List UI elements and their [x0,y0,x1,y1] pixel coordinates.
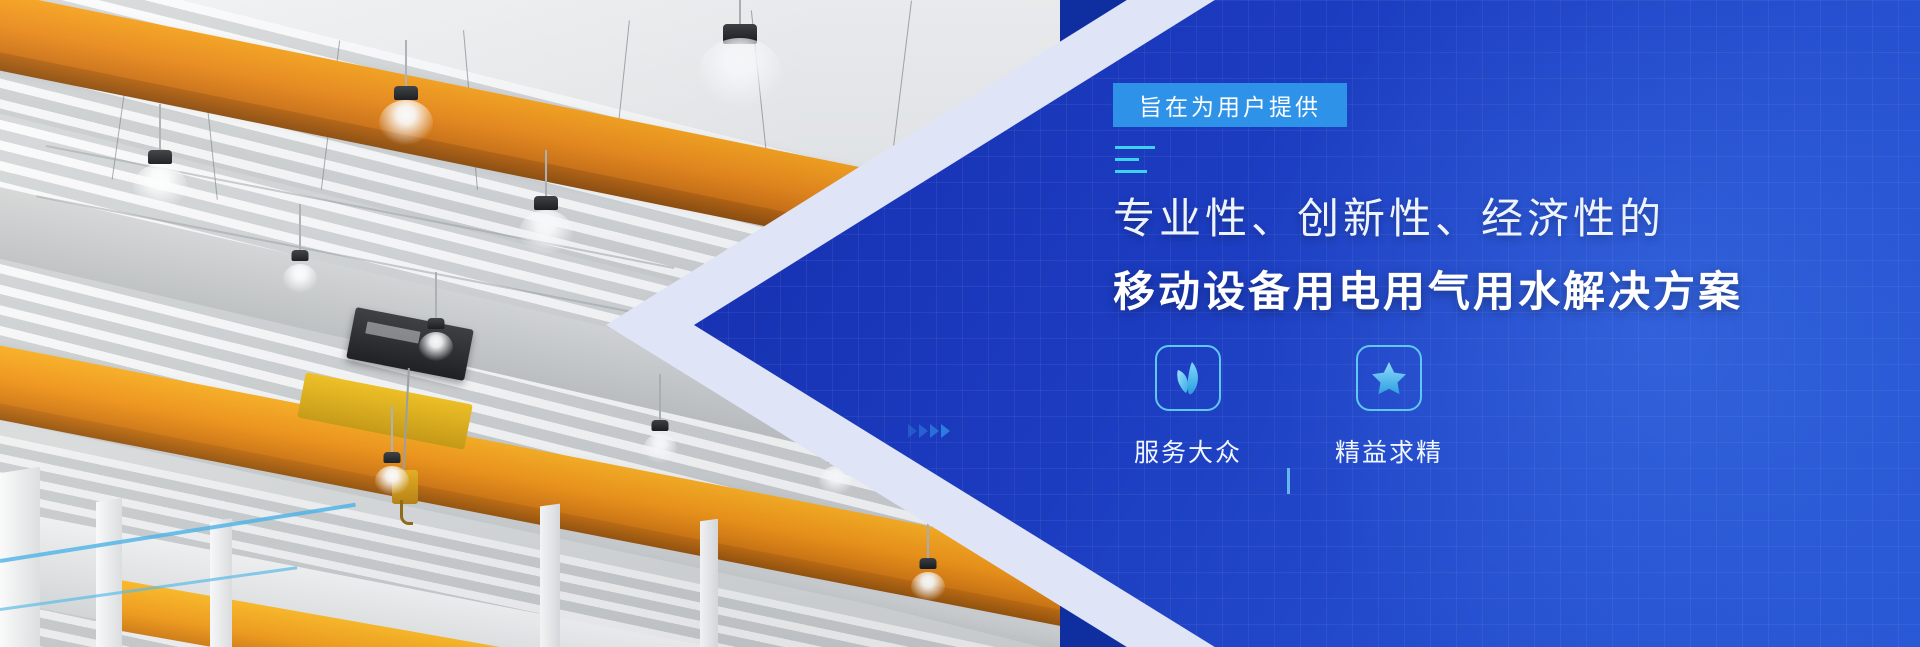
star-icon [1356,345,1422,411]
feature-item-excellence: 精益求精 [1314,345,1464,469]
feature-label: 精益求精 [1335,433,1443,469]
tagline-badge: 旨在为用户提供 [1113,83,1347,127]
feature-list: 服务大众 精益求精 [1113,345,1464,494]
feature-separator [1287,468,1290,494]
support-column [210,518,232,647]
headline-line-1: 专业性、创新性、经济性的 [1113,185,1665,246]
banner-content: 旨在为用户提供 专业性、创新性、经济性的 移动设备用电用气用水解决方案 [1113,0,1920,647]
decorative-lines-icon [1115,146,1155,173]
support-column [540,504,560,647]
leaf-icon [1155,345,1221,411]
feature-label: 服务大众 [1134,433,1242,469]
feature-item-service: 服务大众 [1113,345,1263,469]
headline-line-2: 移动设备用电用气用水解决方案 [1113,258,1743,319]
support-column [700,519,718,647]
support-column [96,498,122,647]
chevron-arrows-icon [908,424,950,438]
hero-banner: 旨在为用户提供 专业性、创新性、经济性的 移动设备用电用气用水解决方案 [0,0,1920,647]
